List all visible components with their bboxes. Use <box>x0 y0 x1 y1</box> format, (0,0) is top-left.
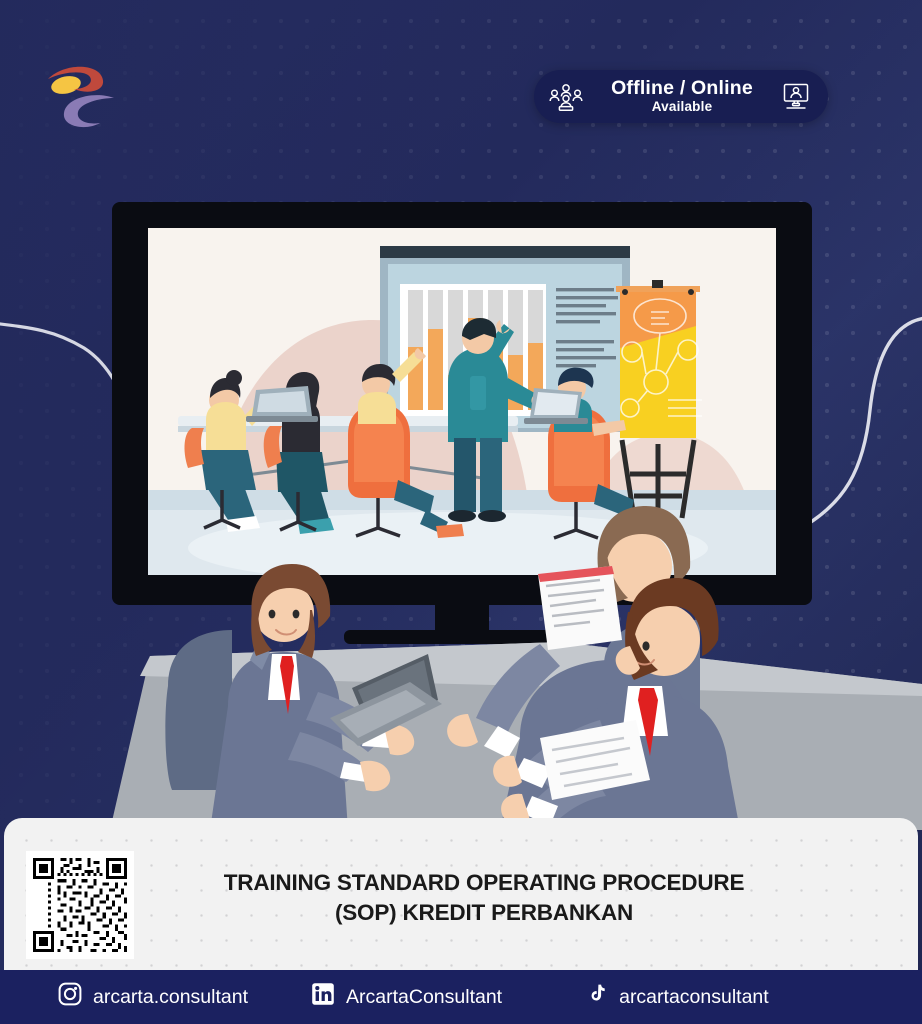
badge-title: Offline / Online <box>611 77 753 99</box>
online-presenter-monitor-icon <box>780 82 812 112</box>
page-title: TRAINING STANDARD OPERATING PROCEDURE (S… <box>164 868 804 929</box>
social-bar: arcarta.consultant ArcartaConsultant arc… <box>0 970 922 1024</box>
bottom-info-card: TRAINING STANDARD OPERATING PROCEDURE (S… <box>4 818 918 970</box>
instagram-handle: arcarta.consultant <box>93 986 248 1009</box>
group-meeting-icon <box>548 82 584 112</box>
social-instagram[interactable]: arcarta.consultant <box>58 982 248 1012</box>
instagram-icon <box>58 982 82 1012</box>
tiktok-icon <box>584 982 608 1012</box>
social-linkedin[interactable]: ArcartaConsultant <box>311 982 502 1012</box>
title-line-2: (SOP) KREDIT PERBANKAN <box>164 898 804 928</box>
badge-text-block: Offline / Online Available <box>592 78 772 116</box>
linkedin-icon <box>311 982 335 1012</box>
tiktok-handle: arcartaconsultant <box>619 986 769 1009</box>
title-line-1: TRAINING STANDARD OPERATING PROCEDURE <box>224 870 745 895</box>
social-tiktok[interactable]: arcartaconsultant <box>584 982 769 1012</box>
poster-canvas: Offline / Online Available <box>0 0 922 1024</box>
qr-code[interactable] <box>26 851 134 959</box>
arcarta-logo[interactable] <box>38 55 124 135</box>
linkedin-handle: ArcartaConsultant <box>346 986 502 1009</box>
badge-subtitle: Available <box>652 99 713 114</box>
foreground-attendees <box>0 470 922 830</box>
offline-online-badge[interactable]: Offline / Online Available <box>534 70 828 123</box>
